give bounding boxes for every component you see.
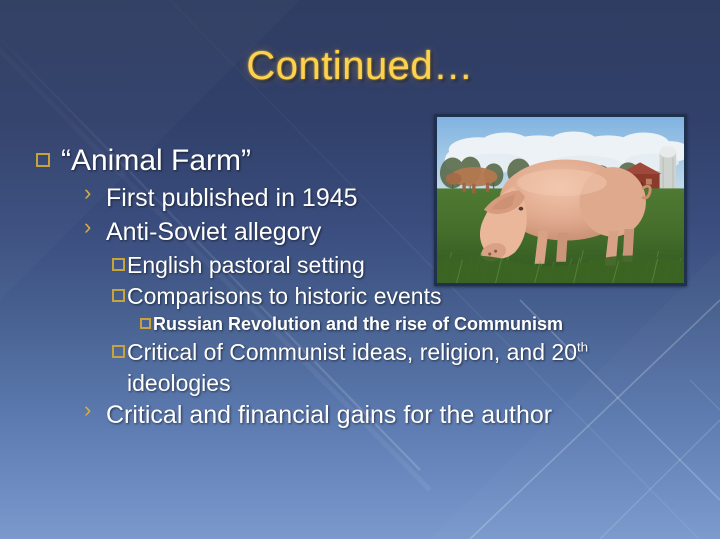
bullet-text: First published in 1945 — [106, 182, 358, 215]
bullet-text: English pastoral setting — [127, 250, 365, 281]
bullet-text-part-2: ideologies — [127, 370, 231, 396]
presentation-slide: Continued… — [0, 0, 720, 539]
chevron-bullet-icon — [84, 225, 94, 241]
bullet-item-level3: Comparisons to historic events — [36, 281, 686, 312]
bullet-item-level1: “Animal Farm” — [36, 142, 686, 180]
ordinal-superscript: th — [577, 339, 588, 354]
chevron-bullet-icon — [84, 191, 94, 207]
bullet-item-level3: English pastoral setting — [36, 250, 686, 281]
hollow-square-bullet-icon — [112, 289, 125, 302]
bullet-text: Comparisons to historic events — [127, 281, 441, 312]
bullet-text: Russian Revolution and the rise of Commu… — [153, 312, 563, 337]
hollow-square-bullet-icon — [140, 318, 151, 329]
hollow-square-bullet-icon — [112, 258, 125, 271]
bullet-item-level2: Anti-Soviet allegory — [36, 216, 686, 249]
bullet-text: Critical and financial gains for the aut… — [106, 399, 552, 432]
bullet-text: Anti-Soviet allegory — [106, 216, 321, 249]
bullet-item-level2: Critical and financial gains for the aut… — [36, 399, 686, 432]
hollow-square-bullet-icon — [36, 153, 50, 167]
bullet-text-with-superscript: Critical of Communist ideas, religion, a… — [127, 337, 686, 399]
chevron-bullet-icon — [84, 408, 94, 424]
hollow-square-bullet-icon — [112, 345, 125, 358]
slide-title: Continued… — [0, 44, 720, 89]
bullet-text-part-1: Critical of Communist ideas, religion, a… — [127, 339, 577, 365]
bullet-text: “Animal Farm” — [61, 142, 251, 180]
bullet-item-level4: Russian Revolution and the rise of Commu… — [36, 312, 686, 337]
bullet-item-level2: First published in 1945 — [36, 182, 686, 215]
slide-body: “Animal Farm” First published in 1945 An… — [36, 142, 686, 433]
bullet-item-level3-superscript: Critical of Communist ideas, religion, a… — [36, 337, 686, 399]
